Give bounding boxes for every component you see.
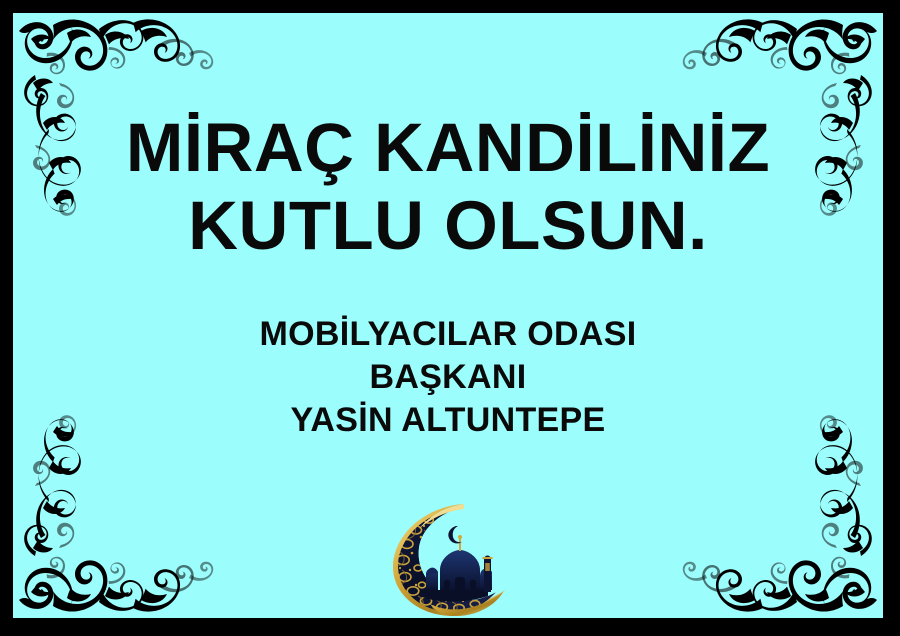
mosque-silhouette [420,526,493,602]
card-text-block: MİRAÇ KANDİLİNİZ KUTLU OLSUN. MOBİLYACIL… [13,109,883,442]
headline-line-1: MİRAÇ KANDİLİNİZ [13,109,883,187]
crescent-moon-with-mosque-icon [372,500,524,618]
subtitle-line-organization: MOBİLYACILAR ODASI [13,313,883,356]
card-subtitle-block: MOBİLYACILAR ODASI BAŞKANI YASİN ALTUNTE… [13,313,883,442]
mosque-finial [459,538,461,551]
greeting-card: MİRAÇ KANDİLİNİZ KUTLU OLSUN. MOBİLYACIL… [0,0,900,636]
card-headline: MİRAÇ KANDİLİNİZ KUTLU OLSUN. [13,109,883,265]
floral-flourish-icon-bottom-left [13,413,243,618]
card-panel: MİRAÇ KANDİLİNİZ KUTLU OLSUN. MOBİLYACIL… [13,13,883,618]
headline-line-2: KUTLU OLSUN. [13,187,883,265]
subtitle-line-name: YASİN ALTUNTEPE [13,399,883,442]
floral-flourish-icon-bottom-right [653,413,883,618]
mosque-arch-center [455,577,465,590]
subtitle-line-title: BAŞKANI [13,356,883,399]
